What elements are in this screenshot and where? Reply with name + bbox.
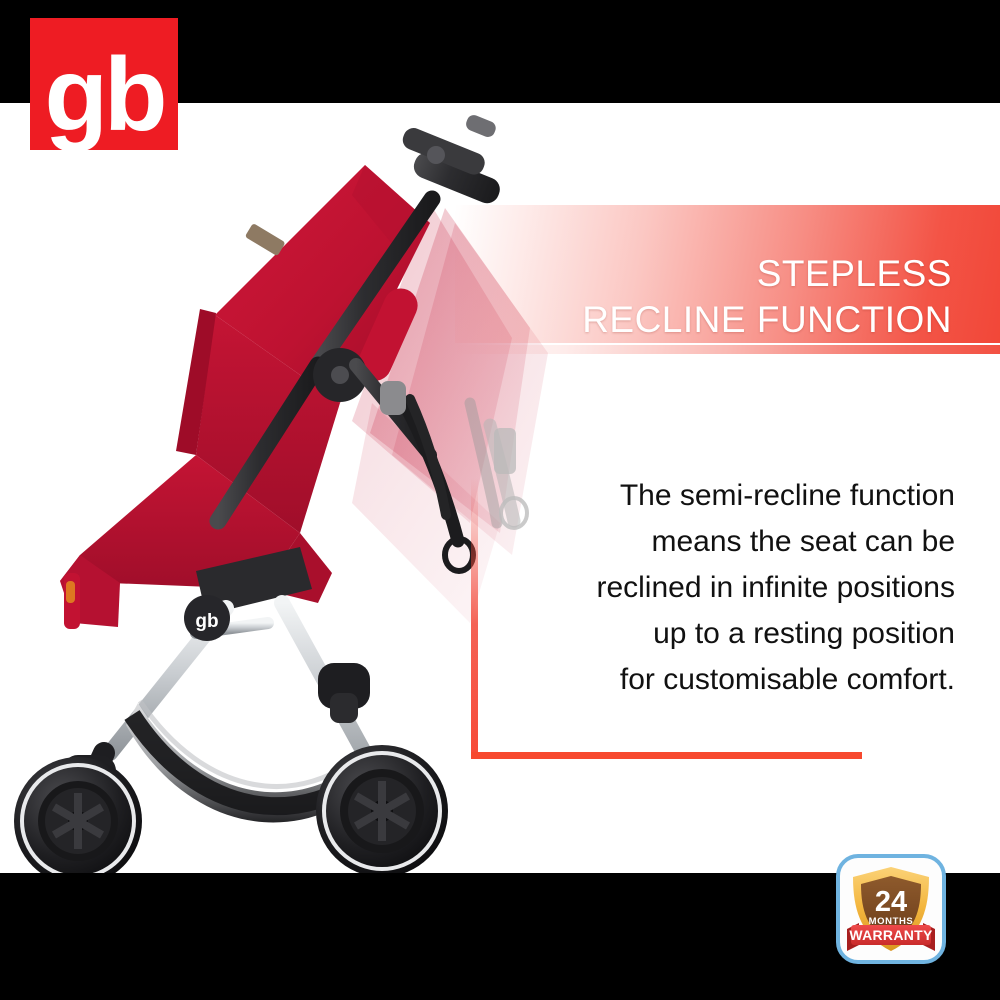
gb-logo-text: gb: [30, 43, 178, 147]
warranty-shield-icon: 24 MONTHS WARRANTY: [843, 861, 939, 957]
warranty-number: 24: [875, 886, 907, 918]
headline-banner: STEPLESS RECLINE FUNCTION: [455, 205, 1000, 343]
warranty-label: WARRANTY: [849, 927, 933, 943]
svg-text:gb: gb: [195, 611, 218, 632]
warranty-badge: 24 MONTHS WARRANTY: [836, 854, 946, 964]
accent-rule-vertical: [471, 478, 478, 759]
accent-rule-horizontal: [471, 752, 862, 759]
gb-logo: gb: [30, 18, 178, 150]
product-feature-slide: gb: [0, 0, 1000, 1000]
headline-banner-underline: [455, 345, 1000, 354]
headline-title: STEPLESS RECLINE FUNCTION: [582, 251, 952, 343]
stroller-handlebar: [400, 113, 504, 207]
body-paragraph: The semi-recline function means the seat…: [495, 473, 955, 703]
